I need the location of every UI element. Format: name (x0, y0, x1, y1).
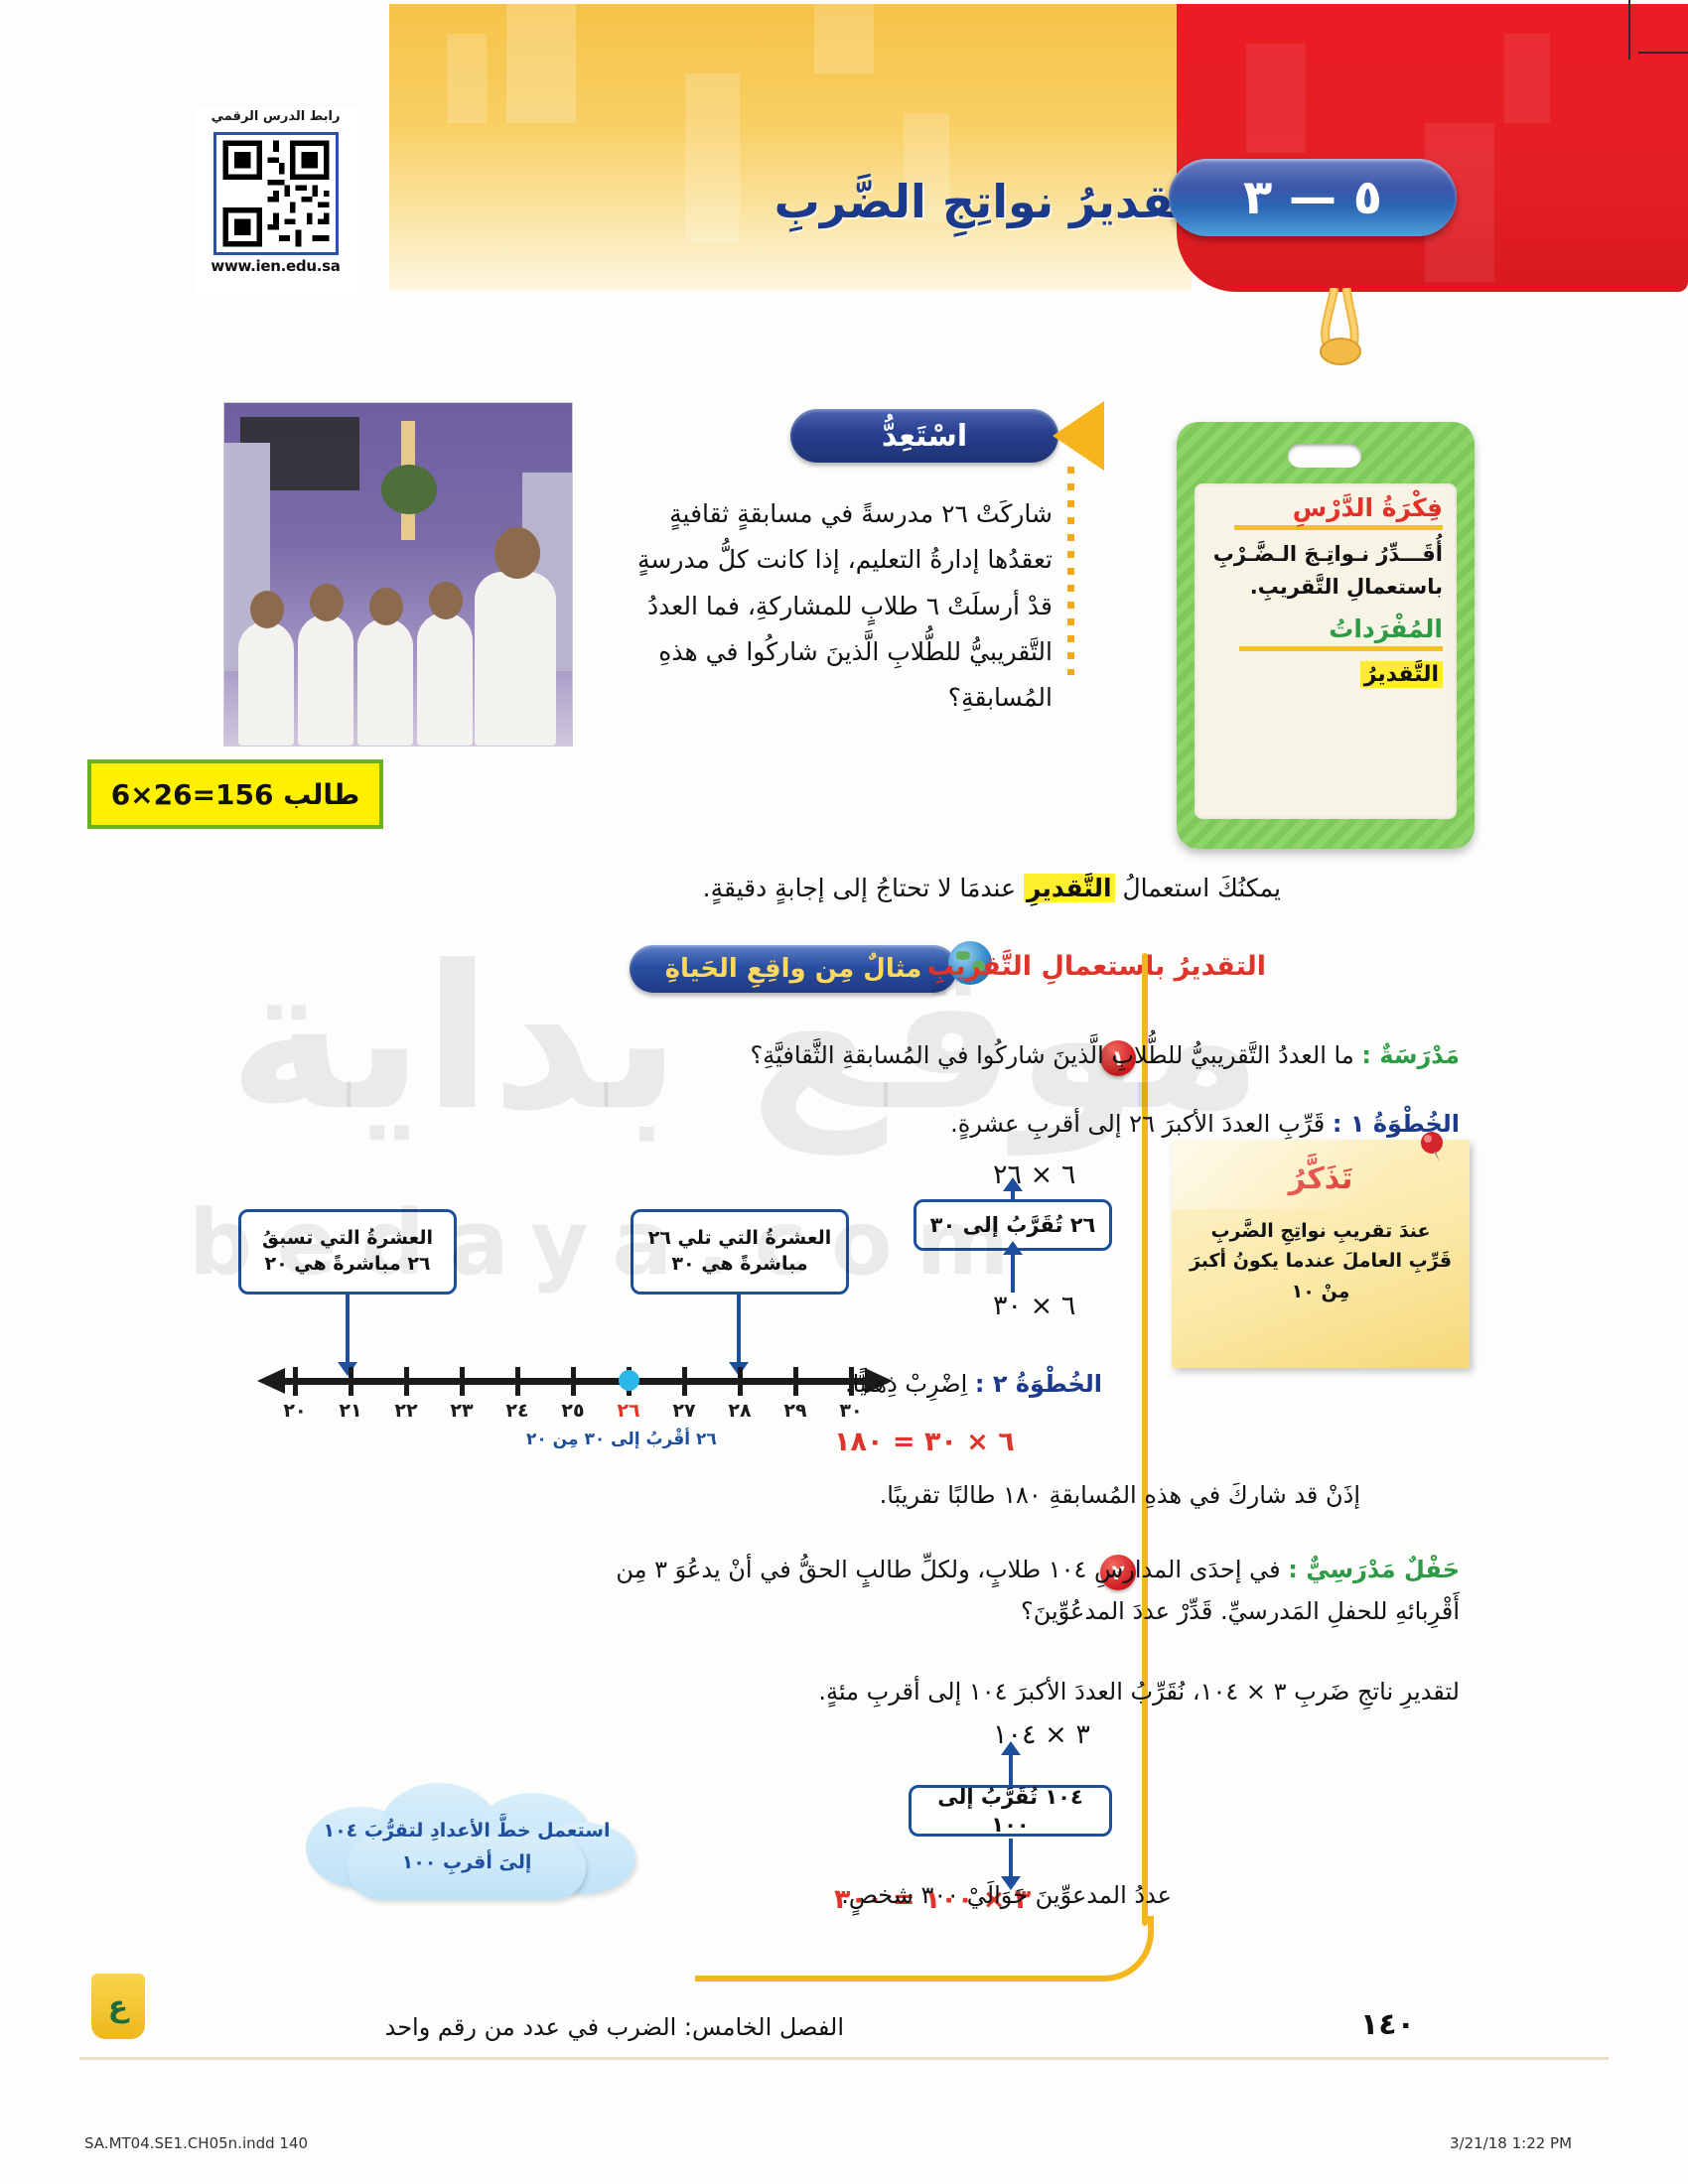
number-line-arrow-left-icon (257, 1368, 285, 1394)
estimate-intro-line: يمكنُكَ استعمالُ التَّقديرِ عندمَا لا تح… (546, 874, 1281, 902)
footer-divider (79, 2057, 1609, 2060)
header-yellow-band (387, 4, 1192, 290)
objective-title: فِكْرَةُ الدَّرْسِ (1208, 493, 1443, 522)
example-1-step-1: الخُطْوَةُ ١ : قَرِّبِ العددَ الأكبرَ ٢٦… (606, 1110, 1460, 1138)
remember-note: تَذَكَّرُ عندَ تقريبِ نواتِجِ الضَّربِ ق… (1172, 1140, 1470, 1368)
qr-code-icon (213, 132, 339, 255)
number-line-label: ٢٥ (561, 1400, 584, 1422)
remember-title: تَذَكَّرُ (1188, 1161, 1454, 1196)
lesson-number-badge: ٥ — ٣ (1169, 159, 1457, 236)
step-1-label: الخُطْوَةُ ١ : (1333, 1110, 1460, 1138)
footer-file-meta: SA.MT04.SE1.CH05n.indd 140 (84, 2134, 308, 2152)
arrow-down-to-result-300 (1009, 1839, 1013, 1878)
step-2-label: الخُطْوَةُ ٢ : (975, 1370, 1102, 1398)
ready-badge: اسْتَعِدُّ (790, 409, 1058, 463)
answer-highlight-box: 6×26=156 طالب (87, 759, 383, 829)
example-1-title: مَدْرَسَةٌ : (1361, 1041, 1460, 1069)
number-line-tick (349, 1367, 353, 1396)
vocabulary-title: المُفْرَداتُ (1208, 614, 1443, 643)
number-line-tick (571, 1367, 576, 1396)
hint-cloud-line-1: استعمل خطَّ الأعدادِ لتقرُّبَ ١٠٤ (288, 1815, 645, 1846)
number-line-caption: ٢٦ أقْربُ إلى ٣٠ مِن ٢٠ (526, 1430, 717, 1449)
rope-decoration (1309, 288, 1372, 382)
example-2-conclusion: عددُ المدعوِّينَ حَوَالَيْ ٣٠٠ شخصٍ. (616, 1881, 1172, 1909)
number-line-label: ٢٨ (728, 1400, 751, 1422)
ready-paragraph: شاركَتْ ٢٦ مدرسةً في مسابقةٍ ثقافيةٍ تعق… (616, 491, 1053, 721)
example-2-lead: لتقديرِ ناتجِ ضَربِ ٣ × ١٠٤، نُقَرِّبُ ا… (606, 1678, 1460, 1706)
expression-6x30-result: ٦ × ٣٠ = ١٨٠ (834, 1427, 1015, 1457)
footer-timestamp: 3/21/18 1:22 PM (1450, 2134, 1572, 2152)
watermark: موقع بداية bedaya.com (0, 0, 1688, 2184)
page-number: ١٤٠ (1360, 2007, 1415, 2042)
qr-url: www.ien.edu.sa (194, 257, 357, 275)
footer-chapter-text: الفصل الخامس: الضرب في عدد من رقم واحد (385, 2013, 844, 2041)
lesson-objective-card: فِكْرَةُ الدَّرْسِ أُقَـــدِّرُ نـواتِـج… (1177, 422, 1475, 849)
arrow-up-to-rounding-box (1011, 1253, 1015, 1293)
dotted-divider (1067, 467, 1074, 675)
header-red-band (1177, 4, 1688, 292)
number-line-tick (460, 1367, 465, 1396)
step-2-text: اِضْرِبْ ذِهنيًّا. (845, 1370, 967, 1398)
example-1-conclusion: إذَنْ قد شاركَ في هذهِ المُسابقةِ ١٨٠ طا… (606, 1481, 1360, 1509)
step-1-text: قَرِّبِ العددَ الأكبرَ ٢٦ إلى أقربِ عشرة… (950, 1110, 1325, 1138)
ready-badge-arrow-icon (1053, 401, 1104, 471)
textbook-page: تقديرُ نواتِجِ الضَّربِ ٥ — ٣ رابط الدرس… (0, 0, 1688, 2184)
number-line-tick (293, 1367, 298, 1396)
lesson-photo (223, 402, 573, 747)
rounding-box-104: ١٠٤ تُقَرَّبُ إلى ١٠٠ (909, 1785, 1112, 1837)
example-1-question: مَدْرَسَةٌ : ما العددُ التَّقريبيُّ للطُ… (606, 1034, 1460, 1076)
page-title: تقديرُ نواتِجِ الضَّربِ (774, 175, 1192, 228)
example-1-step-2: الخُطْوَةُ ٢ : اِضْرِبْ ذِهنيًّا. (606, 1370, 1102, 1398)
estimate-text-1: يمكنُكَ استعمالُ (1122, 874, 1281, 902)
real-world-example-pill: مثالٌ مِن واقِعِ الحَياةِ (630, 945, 957, 993)
estimate-vocab-highlight: التَّقديرِ (1024, 874, 1115, 902)
section-red-title: التقديرُ باستعمالِ التَّقريبِ (927, 951, 1266, 982)
crop-mark-horizontal (1638, 52, 1688, 54)
objective-title-rule (1234, 525, 1443, 530)
vocabulary-title-rule (1239, 646, 1443, 651)
objective-body: أُقَـــدِّرُ نـواتِـجَ الـضَّـرْبِ باستع… (1208, 538, 1443, 603)
example-2-title: حَفْلٌ مَدْرَسِيٌّ : (1288, 1556, 1460, 1583)
number-line-label: ٢٤ (505, 1400, 528, 1422)
card-punch-hole (1288, 444, 1361, 468)
number-line-label: ٢١ (339, 1400, 361, 1422)
qr-label: رابط الدرس الرقمي (194, 109, 357, 124)
number-line-label: ٢٠ (283, 1400, 306, 1422)
hint-cloud-text: استعمل خطَّ الأعدادِ لتقرُّبَ ١٠٤ إلىَ أ… (288, 1815, 645, 1879)
expression-6x30: ٦ × ٣٠ (993, 1291, 1075, 1321)
number-line-label: ٢٧ (672, 1400, 695, 1422)
sidebar-accent-curve (695, 1916, 1154, 1981)
curriculum-logo-icon: ع (91, 1974, 145, 2039)
vocabulary-term: التَّقديرُ (1360, 661, 1443, 688)
number-line-tick (515, 1367, 520, 1396)
number-line-label: ٢٣ (450, 1400, 473, 1422)
callout-previous-ten: العشرةُ التي تسبقُ ٢٦ مباشرةً هي ٢٠ (238, 1209, 457, 1295)
number-line-label: ٢٩ (783, 1400, 806, 1422)
number-line-label: ٢٢ (394, 1400, 417, 1422)
number-line-label: ٢٦ (617, 1400, 639, 1422)
number-line-label: ٣٠ (839, 1400, 862, 1422)
digital-lesson-qr-card[interactable]: رابط الدرس الرقمي (194, 107, 357, 296)
estimate-text-2: عندمَا لا تحتاجُ إلى إجابةٍ دقيقةٍ. (703, 874, 1016, 902)
sidebar-accent-line (1142, 953, 1148, 1926)
example-1-question-text: ما العددُ التَّقريبيُّ للطُّلابِ الَّذين… (751, 1041, 1354, 1069)
callout-next-ten: العشرةُ التي تلي ٢٦ مباشرةً هي ٣٠ (631, 1209, 849, 1295)
photo-tower-sphere (381, 465, 437, 514)
hint-cloud-line-2: إلىَ أقربِ ١٠٠ (288, 1846, 645, 1878)
arrow-down-next-ten (737, 1295, 741, 1364)
arrow-down-previous-ten (346, 1295, 350, 1364)
crop-mark-vertical (1628, 0, 1630, 60)
hint-cloud: استعمل خطَّ الأعدادِ لتقرُّبَ ١٠٤ إلىَ أ… (288, 1777, 645, 1906)
number-line-tick (404, 1367, 409, 1396)
example-2-question: حَفْلٌ مَدْرَسِيٌّ : في إحدَى المدارسِ ١… (606, 1549, 1460, 1632)
remember-body: عندَ تقريبِ نواتِجِ الضَّربِ قَرِّبِ الع… (1188, 1216, 1454, 1306)
objective-card-inner: فِكْرَةُ الدَّرْسِ أُقَـــدِّرُ نـواتِـج… (1195, 483, 1457, 819)
